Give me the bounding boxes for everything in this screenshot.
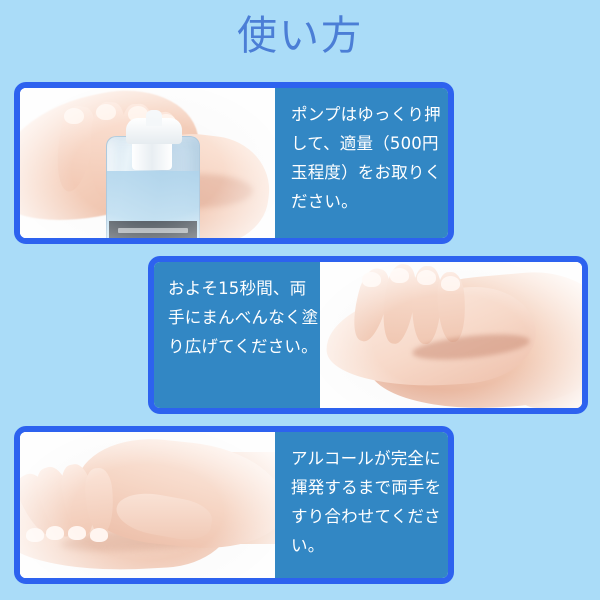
step-panel-1: ポンプはゆっくり押して、適量（500円玉程度）をお取りください。 (14, 82, 454, 244)
fingernail (68, 526, 86, 540)
fingernail (390, 268, 409, 283)
fingernail (90, 528, 108, 542)
fingernail (362, 272, 381, 287)
page-title: 使い方 (0, 8, 600, 64)
step-1-caption: ポンプはゆっくり押して、適量（500円玉程度）をお取りください。 (275, 88, 448, 238)
fingernail (417, 270, 436, 285)
fingernail (46, 526, 64, 540)
step-2-photo (320, 262, 582, 408)
step-3-caption: アルコールが完全に揮発するまで両手をすり合わせてください。 (275, 432, 448, 578)
step-panel-3: アルコールが完全に揮発するまで両手をすり合わせてください。 (14, 426, 454, 584)
bottle-neck (132, 140, 172, 170)
step-1-photo (20, 88, 275, 238)
step-panel-2: およそ15秒間、両手にまんべんなく塗り広げてください。 (148, 256, 588, 414)
fingernail (441, 276, 460, 291)
pump-stem (146, 110, 162, 126)
step-2-caption: およそ15秒間、両手にまんべんなく塗り広げてください。 (154, 262, 320, 408)
fingernail (96, 104, 116, 120)
step-3-photo (20, 432, 275, 578)
bottle-label (109, 221, 197, 238)
fingernail (26, 528, 44, 542)
fingernail (64, 108, 84, 124)
